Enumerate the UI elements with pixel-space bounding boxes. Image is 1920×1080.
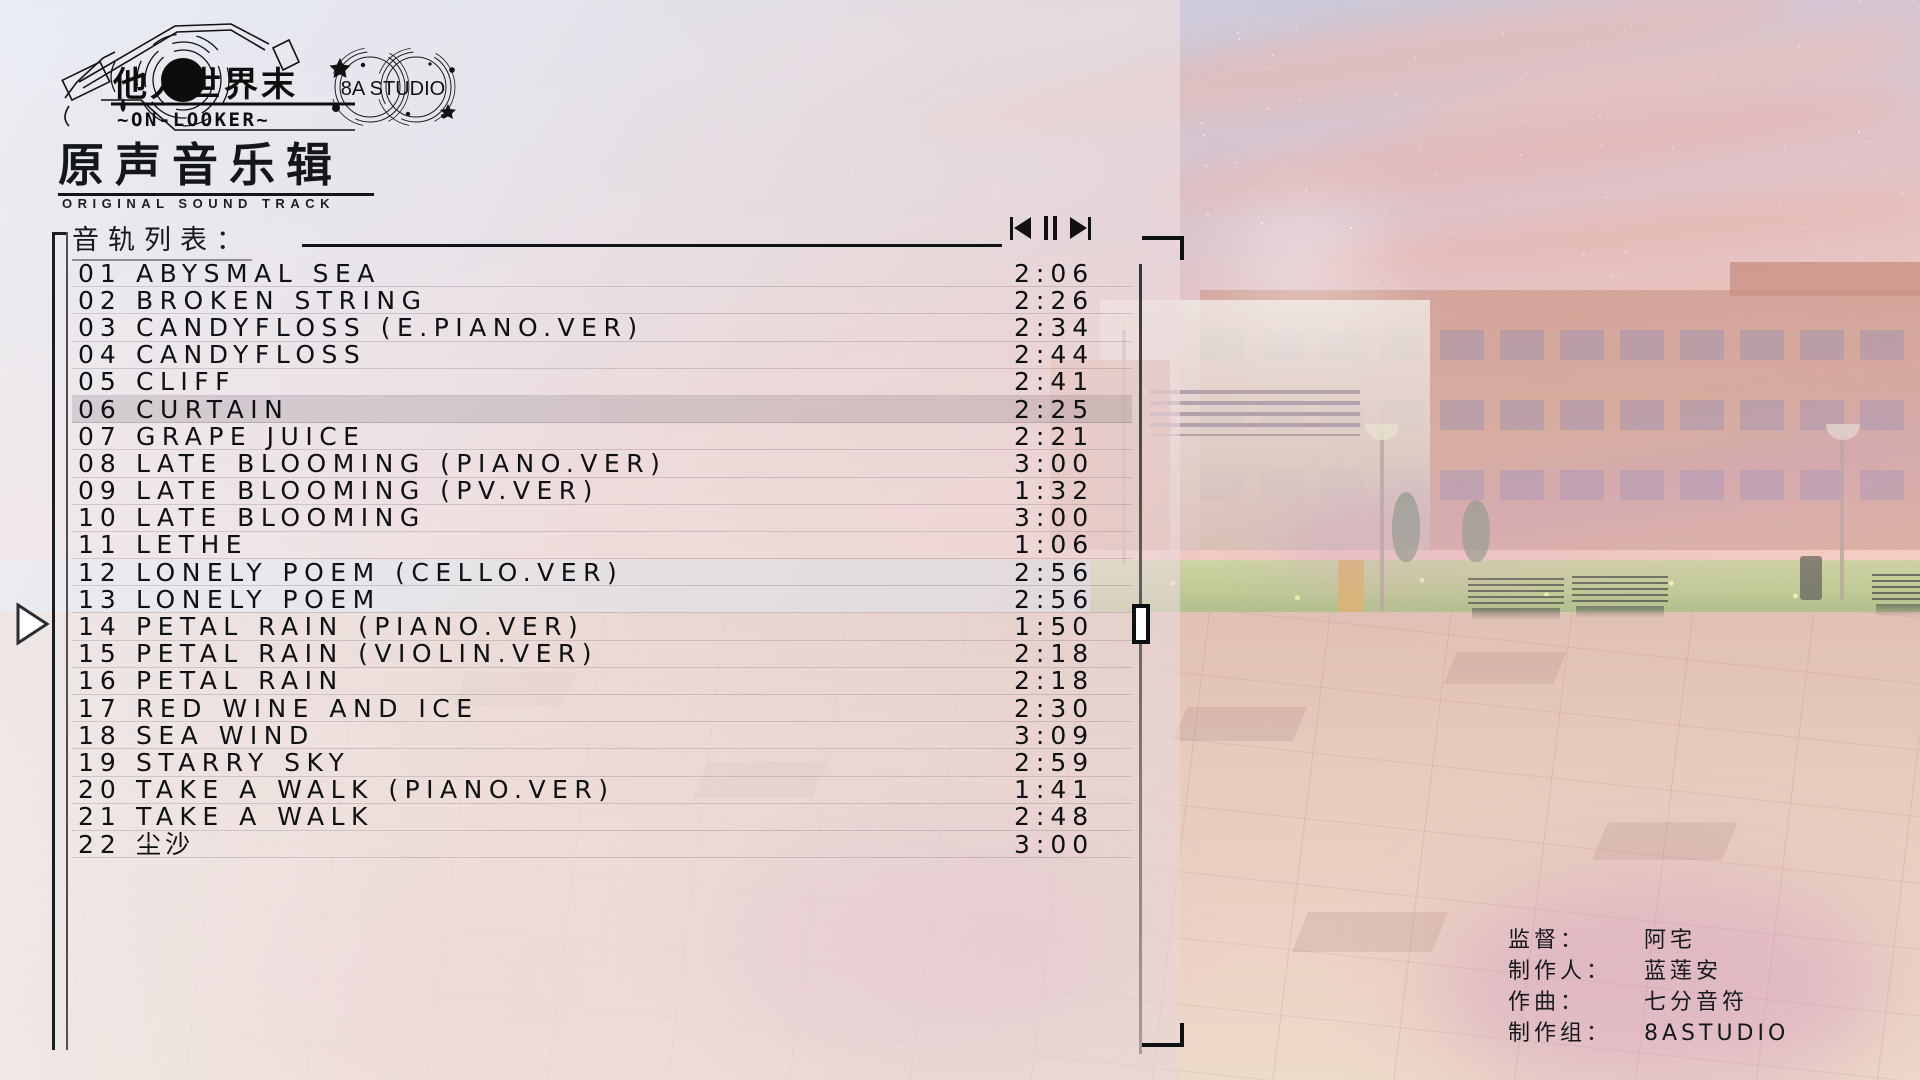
track-title: TAKE A WALK (PIANO.VER): [136, 777, 1014, 802]
track-title: LATE BLOOMING (PV.VER): [136, 478, 1014, 503]
star: [1859, 1, 1861, 3]
track-row[interactable]: 13LONELY POEM2:56: [72, 586, 1132, 613]
track-number: 10: [78, 505, 136, 530]
track-row[interactable]: 06CURTAIN2:25: [72, 396, 1132, 423]
track-row[interactable]: 17RED WINE AND ICE2:30: [72, 695, 1132, 722]
park-bench: [1872, 574, 1920, 604]
track-number: 07: [78, 424, 136, 449]
paving-tile-dark: [1592, 822, 1737, 860]
track-title: PETAL RAIN (PIANO.VER): [136, 614, 1014, 639]
track-row[interactable]: 05CLIFF2:41: [72, 369, 1132, 396]
star: [1249, 39, 1251, 41]
credit-value: 阿宅: [1644, 922, 1696, 954]
track-row[interactable]: 19STARRY SKY2:59: [72, 749, 1132, 776]
transport-controls: [1010, 216, 1091, 240]
credit-label: 作曲：: [1508, 984, 1644, 1016]
next-bar-icon: [1088, 217, 1091, 240]
paving-tile-dark: [1444, 652, 1567, 684]
track-title: SEA WIND: [136, 723, 1014, 748]
star: [1754, 190, 1756, 192]
trash-bin: [1800, 556, 1822, 600]
track-row[interactable]: 03CANDYFLOSS (E.PIANO.VER)2:34: [72, 314, 1132, 341]
tracklist-panel: 音轨列表： 01ABYSMAL SEA2:0602BROKEN STRING2:…: [52, 218, 1392, 1058]
header-rule: [302, 244, 1002, 247]
prev-track-button[interactable]: [1010, 217, 1031, 240]
track-title: LONELY POEM (CELLO.VER): [136, 560, 1014, 585]
tracklist-header: 音轨列表：: [72, 218, 1392, 258]
pause-bar-left-icon: [1044, 216, 1048, 240]
track-title: STARRY SKY: [136, 750, 1014, 775]
star: [1205, 165, 1207, 167]
credit-value: 蓝莲安: [1644, 953, 1722, 985]
star: [1207, 214, 1209, 216]
track-number: 02: [78, 288, 136, 313]
track-row[interactable]: 10LATE BLOOMING3:00: [72, 505, 1132, 532]
panel-corner-bottom-right: [1142, 1023, 1184, 1047]
track-title: RED WINE AND ICE: [136, 696, 1014, 721]
star: [1605, 196, 1607, 198]
credit-label: 制作组：: [1508, 1015, 1644, 1047]
track-number: 09: [78, 478, 136, 503]
studio-logo-text: 8A STUDIO: [341, 78, 445, 100]
tree: [1392, 492, 1420, 562]
star: [1236, 162, 1238, 164]
track-number: 11: [78, 532, 136, 557]
credit-label: 制作人：: [1508, 953, 1644, 985]
track-row[interactable]: 22尘沙3:00: [72, 831, 1132, 858]
track-number: 08: [78, 451, 136, 476]
star: [1303, 22, 1305, 24]
track-title: LATE BLOOMING (PIANO.VER): [136, 451, 1014, 476]
credit-value: 七分音符: [1644, 984, 1748, 1016]
star: [1201, 122, 1203, 124]
building-roof-block: [1730, 262, 1920, 296]
credit-line: 制作组：8ASTUDIO: [1508, 1015, 1908, 1046]
track-title: CANDYFLOSS (E.PIANO.VER): [136, 315, 1014, 340]
track-title: ABYSMAL SEA: [136, 261, 1014, 286]
track-row[interactable]: 16PETAL RAIN2:18: [72, 668, 1132, 695]
track-title: LONELY POEM: [136, 587, 1014, 612]
track-title: TAKE A WALK: [136, 804, 1014, 829]
track-duration: 2:59: [1014, 750, 1132, 775]
album-title-en: ORIGINAL SOUND TRACK: [62, 196, 335, 211]
track-row[interactable]: 04CANDYFLOSS2:44: [72, 342, 1132, 369]
track-number: 17: [78, 696, 136, 721]
track-title: GRAPE JUICE: [136, 424, 1014, 449]
tracklist: 01ABYSMAL SEA2:0602BROKEN STRING2:2603CA…: [72, 260, 1132, 858]
track-number: 21: [78, 804, 136, 829]
track-duration: 2:41: [1014, 369, 1132, 394]
track-title: BROKEN STRING: [136, 288, 1014, 313]
track-duration: 3:00: [1014, 505, 1132, 530]
track-duration: 1:50: [1014, 614, 1132, 639]
star: [1612, 275, 1614, 277]
track-title: PETAL RAIN (VIOLIN.VER): [136, 641, 1014, 666]
track-duration: 2:25: [1014, 397, 1132, 422]
track-duration: 2:21: [1014, 424, 1132, 449]
tree: [1462, 500, 1490, 562]
track-number: 18: [78, 723, 136, 748]
track-title: LATE BLOOMING: [136, 505, 1014, 530]
track-row[interactable]: 12LONELY POEM (CELLO.VER)2:56: [72, 559, 1132, 586]
track-number: 20: [78, 777, 136, 802]
pause-bar-right-icon: [1053, 216, 1057, 240]
scrollbar-thumb[interactable]: [1132, 604, 1150, 644]
credits-block: 监督：阿宅制作人：蓝莲安作曲：七分音符制作组：8ASTUDIO: [1508, 922, 1908, 1046]
track-row[interactable]: 21TAKE A WALK2:48: [72, 804, 1132, 831]
credit-label: 监督：: [1508, 922, 1644, 954]
studio-logo: 8A STUDIO: [318, 42, 468, 132]
track-title: 尘沙: [136, 832, 1014, 857]
track-duration: 2:56: [1014, 587, 1132, 612]
track-number: 15: [78, 641, 136, 666]
track-number: 16: [78, 668, 136, 693]
track-duration: 1:06: [1014, 532, 1132, 557]
star: [1784, 148, 1786, 150]
track-duration: 2:34: [1014, 315, 1132, 340]
panel-frame-left-inner: [66, 232, 68, 1050]
scrollbar-track[interactable]: [1139, 264, 1142, 1054]
track-duration: 2:18: [1014, 668, 1132, 693]
credit-line: 作曲：七分音符: [1508, 984, 1908, 1015]
star: [1506, 211, 1508, 213]
prev-bar-icon: [1010, 217, 1013, 240]
track-title: CLIFF: [136, 369, 1014, 394]
track-duration: 3:00: [1014, 832, 1132, 857]
star: [1237, 32, 1239, 34]
track-number: 04: [78, 342, 136, 367]
star: [1858, 256, 1860, 258]
track-title: CANDYFLOSS: [136, 342, 1014, 367]
next-track-button[interactable]: [1070, 217, 1091, 240]
album-title-cn: 原声音乐辑: [58, 142, 374, 196]
track-row[interactable]: 18SEA WIND3:09: [72, 722, 1132, 749]
track-duration: 2:44: [1014, 342, 1132, 367]
tracklist-header-label: 音轨列表：: [72, 218, 252, 261]
credit-line: 制作人：蓝莲安: [1508, 953, 1908, 984]
star: [1384, 210, 1386, 212]
track-row[interactable]: 07GRAPE JUICE2:21: [72, 423, 1132, 450]
track-duration: 3:00: [1014, 451, 1132, 476]
album-header: 他人世界末 ~ON-LOOKER~ 8A STUDIO 原声音乐辑 ORIGIN…: [0, 0, 700, 215]
track-title: PETAL RAIN: [136, 668, 1014, 693]
star: [1296, 28, 1298, 30]
series-title-en: ~ON-LOOKER~: [117, 109, 270, 131]
track-row[interactable]: 09LATE BLOOMING (PV.VER)1:32: [72, 478, 1132, 505]
track-duration: 1:41: [1014, 777, 1132, 802]
track-duration: 1:32: [1014, 478, 1132, 503]
star: [1238, 38, 1240, 40]
track-row[interactable]: 01ABYSMAL SEA2:06: [72, 260, 1132, 287]
track-number: 12: [78, 560, 136, 585]
star: [1203, 134, 1205, 136]
track-duration: 2:30: [1014, 696, 1132, 721]
track-number: 14: [78, 614, 136, 639]
park-bench: [1572, 576, 1668, 606]
track-row[interactable]: 15PETAL RAIN (VIOLIN.VER)2:18: [72, 641, 1132, 668]
park-bench: [1468, 578, 1564, 608]
credit-line: 监督：阿宅: [1508, 922, 1908, 953]
track-duration: 2:18: [1014, 641, 1132, 666]
prev-triangle-icon: [1014, 217, 1031, 239]
star: [1807, 258, 1809, 260]
track-title: CURTAIN: [136, 397, 1014, 422]
track-number: 22: [78, 832, 136, 857]
street-lamp-pole: [1840, 430, 1844, 600]
star: [1575, 275, 1577, 277]
track-row[interactable]: 02BROKEN STRING2:26: [72, 287, 1132, 314]
star: [1344, 135, 1346, 137]
track-duration: 3:09: [1014, 723, 1132, 748]
track-duration: 2:06: [1014, 261, 1132, 286]
panel-frame-left: [52, 232, 66, 1050]
credit-value: 8ASTUDIO: [1644, 1021, 1789, 1046]
track-row[interactable]: 14PETAL RAIN (PIANO.VER)1:50: [72, 613, 1132, 640]
track-number: 05: [78, 369, 136, 394]
track-number: 03: [78, 315, 136, 340]
track-duration: 2:48: [1014, 804, 1132, 829]
track-title: LETHE: [136, 532, 1014, 557]
series-title-cn: 他人世界末: [112, 65, 298, 105]
now-playing-arrow-icon: [14, 602, 50, 646]
pause-button[interactable]: [1044, 216, 1057, 240]
next-triangle-icon: [1070, 217, 1087, 239]
track-row[interactable]: 11LETHE1:06: [72, 532, 1132, 559]
track-number: 06: [78, 397, 136, 422]
track-row[interactable]: 20TAKE A WALK (PIANO.VER)1:41: [72, 777, 1132, 804]
star: [1858, 131, 1860, 133]
track-row[interactable]: 08LATE BLOOMING (PIANO.VER)3:00: [72, 450, 1132, 477]
track-duration: 2:56: [1014, 560, 1132, 585]
track-duration: 2:26: [1014, 288, 1132, 313]
star: [1865, 140, 1867, 142]
track-number: 13: [78, 587, 136, 612]
track-number: 01: [78, 261, 136, 286]
track-number: 19: [78, 750, 136, 775]
